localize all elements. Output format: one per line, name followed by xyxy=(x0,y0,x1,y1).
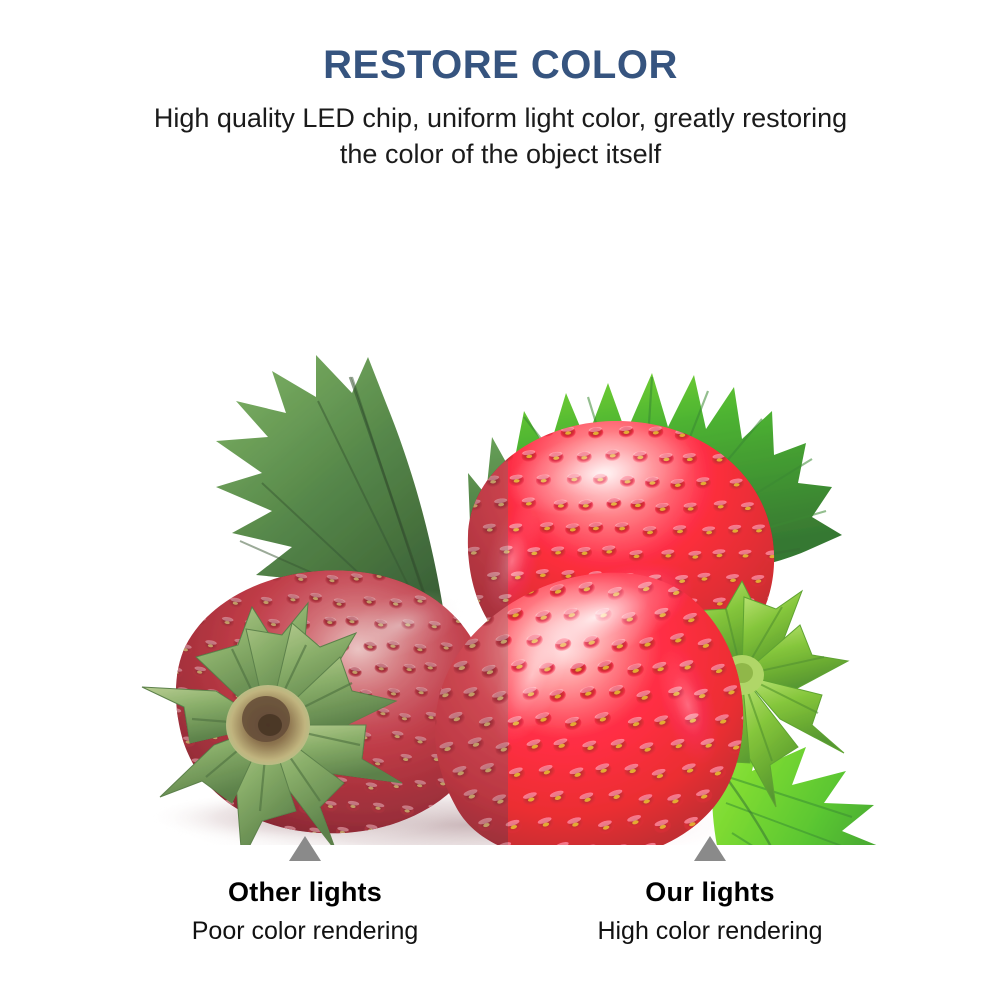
triangle-up-icon xyxy=(694,836,726,861)
subtitle-line-2: the color of the object itself xyxy=(0,136,1001,172)
callout-other-lights-title: Other lights xyxy=(95,861,515,908)
comparison-photo xyxy=(0,205,1001,845)
callout-our-lights: Our lights High color rendering xyxy=(500,836,920,946)
triangle-up-icon xyxy=(289,836,321,861)
callout-other-lights: Other lights Poor color rendering xyxy=(95,836,515,946)
strawberry-illustration xyxy=(0,205,1001,845)
subtitle-line-1: High quality LED chip, uniform light col… xyxy=(0,100,1001,136)
product-feature-image: RESTORE COLOR High quality LED chip, uni… xyxy=(0,0,1001,1001)
page-title: RESTORE COLOR xyxy=(0,0,1001,86)
header-block: RESTORE COLOR High quality LED chip, uni… xyxy=(0,0,1001,173)
callout-our-lights-title: Our lights xyxy=(500,861,920,908)
callout-our-lights-caption: High color rendering xyxy=(500,908,920,946)
comparison-callouts: Other lights Poor color rendering Our li… xyxy=(0,836,1001,1001)
page-subtitle: High quality LED chip, uniform light col… xyxy=(0,86,1001,173)
callout-other-lights-caption: Poor color rendering xyxy=(95,908,515,946)
